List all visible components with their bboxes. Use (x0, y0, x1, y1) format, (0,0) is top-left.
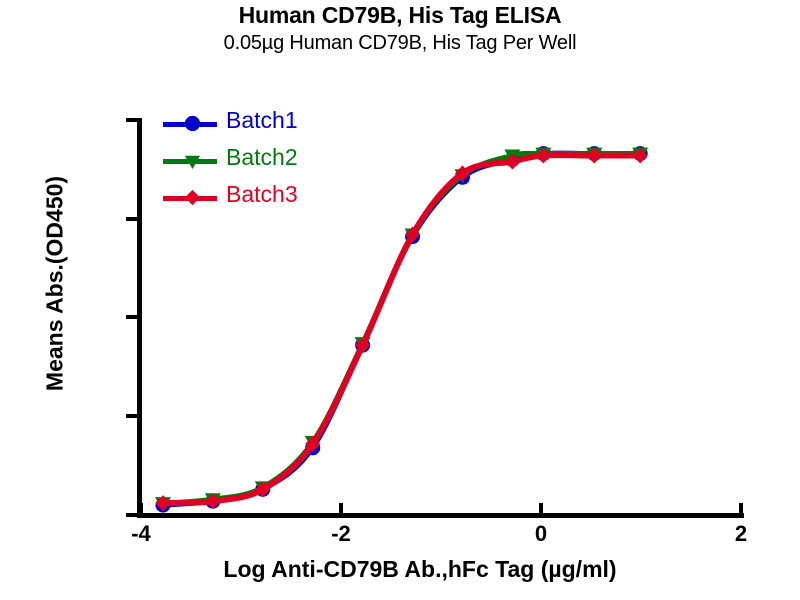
legend-item-batch2[interactable]: Batch2 (163, 144, 363, 181)
elisa-chart-figure: Human CD79B, His Tag ELISA 0.05µg Human … (0, 0, 800, 600)
triangle-down-marker-icon (183, 151, 202, 170)
legend-label-batch3: Batch3 (226, 181, 298, 208)
diamond-marker-icon (183, 188, 202, 207)
circle-marker-icon (183, 114, 202, 133)
series-plot-area (0, 0, 800, 600)
chart-legend: Batch1 Batch2 Batch3 (163, 107, 363, 218)
legend-label-batch2: Batch2 (226, 144, 298, 171)
legend-item-batch3[interactable]: Batch3 (163, 181, 363, 218)
legend-item-batch1[interactable]: Batch1 (163, 107, 363, 144)
legend-label-batch1: Batch1 (226, 107, 298, 134)
